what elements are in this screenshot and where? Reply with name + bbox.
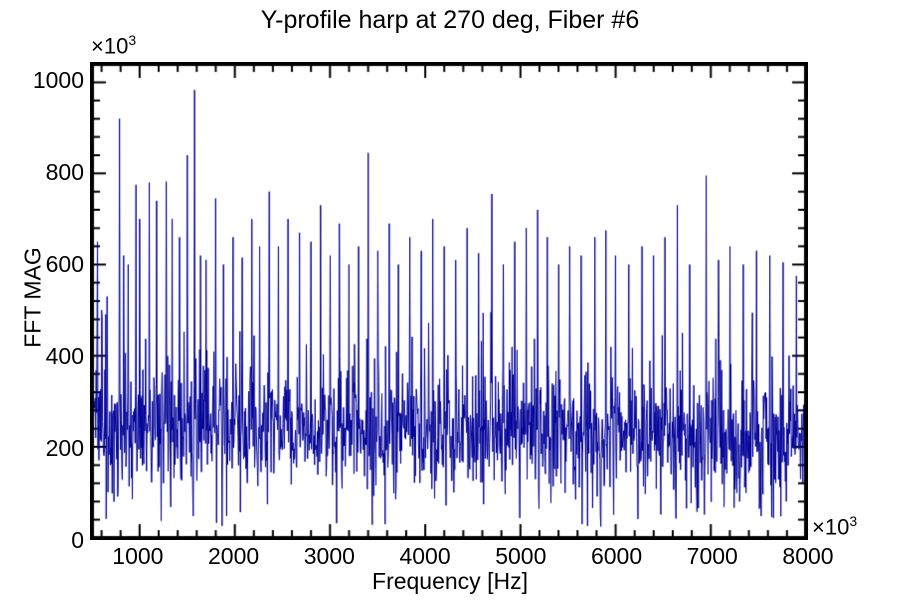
y-axis-multiplier-base: ×10 (91, 33, 128, 58)
x-tick-label: 1000 (112, 545, 163, 568)
chart-page: Y-profile harp at 270 deg, Fiber #6 ×103… (0, 0, 900, 600)
x-axis-title: Frequency [Hz] (0, 568, 900, 595)
x-tick-label: 6000 (591, 545, 642, 568)
y-axis-multiplier: ×103 (91, 33, 136, 57)
y-tick-label: 800 (6, 161, 84, 184)
x-axis-multiplier: ×103 (812, 514, 857, 538)
y-tick-label: 200 (6, 437, 84, 460)
x-tick-label: 7000 (687, 545, 738, 568)
x-axis-multiplier-exponent: 3 (849, 513, 857, 529)
x-tick-label: 2000 (208, 545, 259, 568)
fft-spectrum-plot (92, 64, 806, 538)
y-tick-label: 1000 (6, 69, 84, 92)
x-tick-label: 8000 (782, 545, 833, 568)
plot-frame (90, 62, 808, 540)
x-tick-label: 3000 (304, 545, 355, 568)
x-tick-label: 4000 (399, 545, 450, 568)
chart-title: Y-profile harp at 270 deg, Fiber #6 (0, 6, 900, 35)
y-axis-multiplier-exponent: 3 (128, 32, 136, 48)
x-tick-label: 5000 (495, 545, 546, 568)
y-axis-title: FFT MAG (20, 218, 47, 378)
x-axis-multiplier-base: ×10 (812, 514, 849, 539)
